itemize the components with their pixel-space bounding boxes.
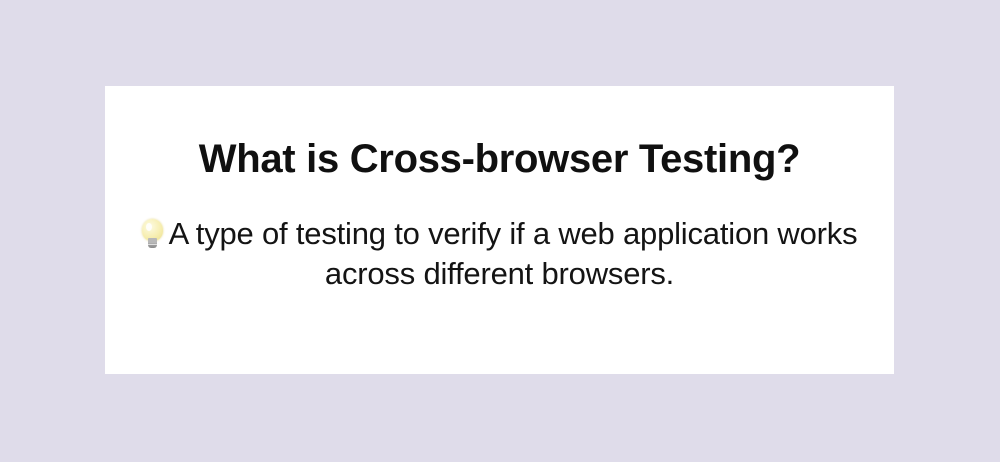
card-title-lead: What is xyxy=(199,137,350,181)
lightbulb-icon xyxy=(142,219,163,249)
slide-canvas: What is Cross-browser Testing? A type of… xyxy=(0,0,1000,462)
card-body-text: A type of testing to verify if a web app… xyxy=(137,214,862,294)
definition-card: What is Cross-browser Testing? A type of… xyxy=(105,86,894,374)
card-title-term: Cross-browser Testing? xyxy=(350,137,801,181)
lightbulb-base xyxy=(148,242,157,248)
card-title: What is Cross-browser Testing? xyxy=(105,136,894,182)
card-body-copy: A type of testing to verify if a web app… xyxy=(169,216,858,291)
